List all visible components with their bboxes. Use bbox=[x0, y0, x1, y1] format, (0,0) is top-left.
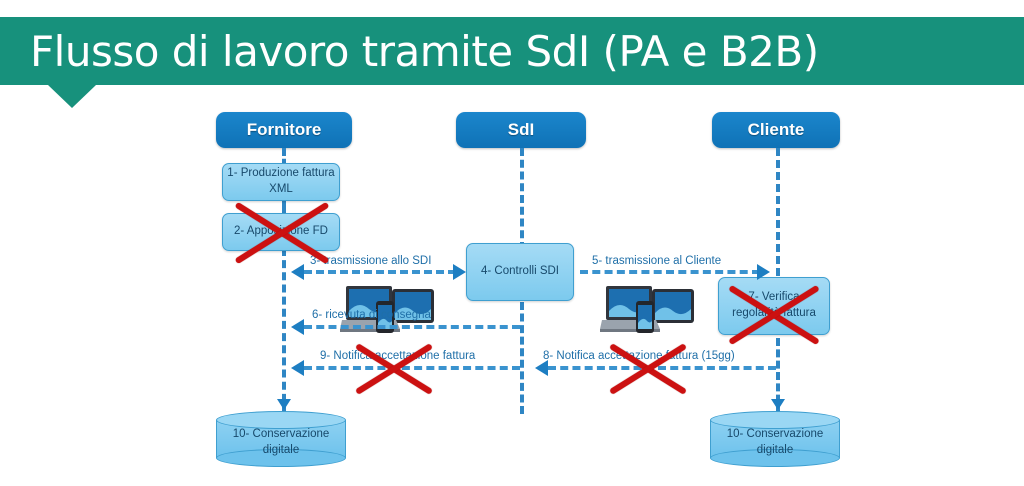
flow-8-arrowhead-left bbox=[535, 360, 548, 376]
lane-header-fornitore[interactable]: Fornitore bbox=[216, 112, 352, 148]
cancel-mark-flow-8 bbox=[604, 337, 692, 401]
step-box-4-controlli-sdi[interactable]: 4- Controlli SDI bbox=[466, 243, 574, 301]
flow-3-line bbox=[304, 270, 456, 274]
flow-3-arrowhead-right bbox=[453, 264, 466, 280]
step-label: 4- Controlli SDI bbox=[481, 264, 559, 280]
flow-6-arrowhead-left bbox=[291, 319, 304, 335]
lane-header-label: Cliente bbox=[748, 120, 805, 140]
flow-6-line bbox=[304, 325, 520, 329]
workflow-diagram: Fornitore SdI Cliente 1- Produzione fatt… bbox=[0, 85, 1024, 486]
lane-header-sdi[interactable]: SdI bbox=[456, 112, 586, 148]
page-title: Flusso di lavoro tramite SdI (PA e B2B) bbox=[30, 17, 819, 85]
lifeline-cliente-a bbox=[776, 148, 780, 276]
arrowhead-to-archive-cliente bbox=[771, 399, 785, 410]
cancel-mark-step-2 bbox=[228, 203, 336, 263]
lifeline-fornitore-c bbox=[282, 248, 286, 414]
arrowhead-to-archive-fornitore bbox=[277, 399, 291, 410]
lifeline-sdi-b bbox=[520, 302, 524, 414]
flow-6-label: 6- ricevuta di consegna bbox=[312, 309, 431, 321]
flow-9-arrowhead-left bbox=[291, 360, 304, 376]
flow-3-arrowhead-left bbox=[291, 264, 304, 280]
flow-5-line bbox=[580, 270, 760, 274]
cancel-mark-flow-9 bbox=[350, 337, 438, 401]
archive-cylinder-fornitore[interactable]: 10- Conservazione digitale bbox=[216, 411, 346, 467]
step-label: 1- Produzione fattura XML bbox=[227, 166, 335, 197]
step-label: 10- Conservazione digitale bbox=[216, 427, 346, 458]
step-label: 10- Conservazione digitale bbox=[710, 427, 840, 458]
lane-header-cliente[interactable]: Cliente bbox=[712, 112, 840, 148]
step-box-1-produzione-fattura-xml[interactable]: 1- Produzione fattura XML bbox=[222, 163, 340, 201]
lane-header-label: SdI bbox=[508, 120, 534, 140]
lifeline-sdi-a bbox=[520, 148, 524, 250]
archive-cylinder-cliente[interactable]: 10- Conservazione digitale bbox=[710, 411, 840, 467]
cancel-mark-step-7 bbox=[722, 275, 826, 355]
flow-5-label: 5- trasmissione al Cliente bbox=[592, 255, 721, 267]
lane-header-label: Fornitore bbox=[247, 120, 322, 140]
